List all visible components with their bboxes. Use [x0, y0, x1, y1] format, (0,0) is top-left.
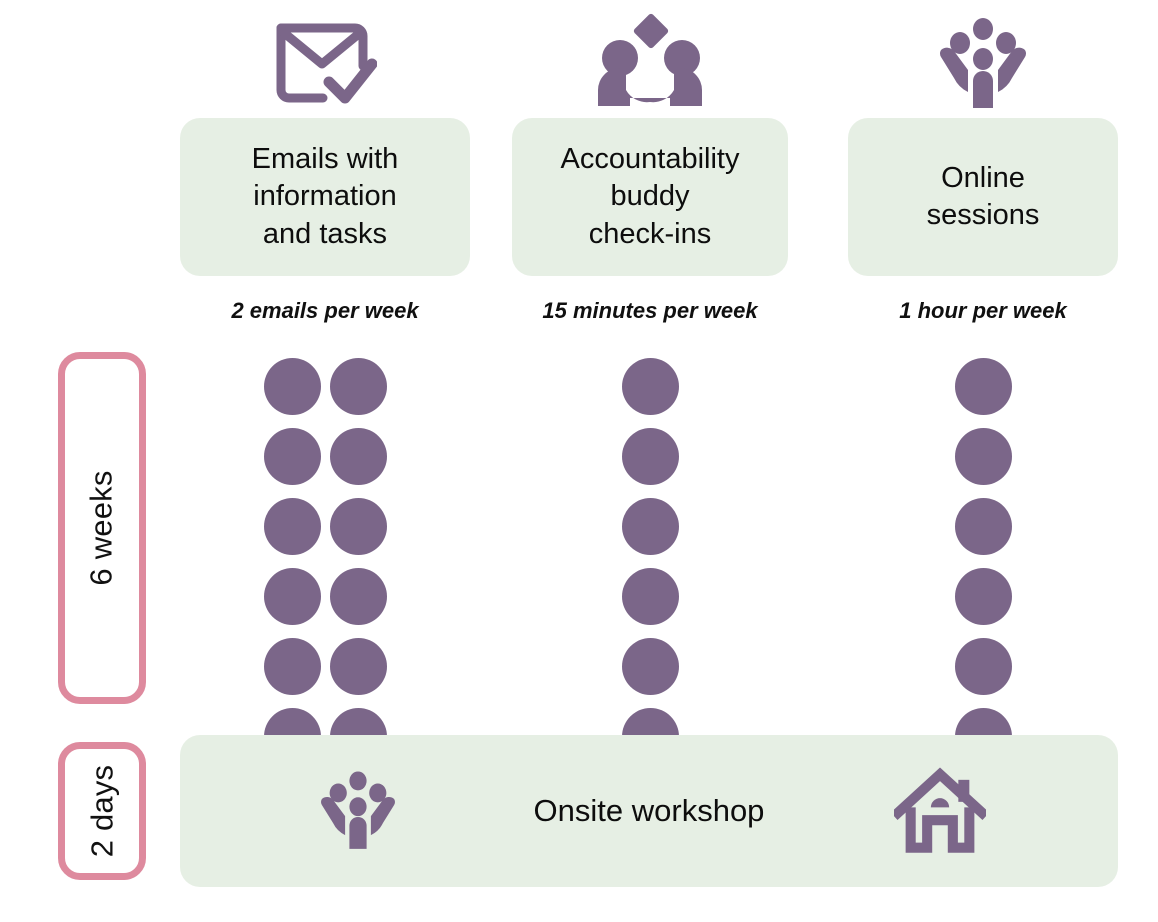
program-card-online-sessions: Online sessions: [848, 118, 1118, 276]
frequency-label-accountability: 15 minutes per week: [512, 298, 788, 324]
week-dot-row: [622, 568, 679, 625]
week-dot-row: [264, 428, 387, 485]
week-dot: [264, 568, 321, 625]
onsite-workshop-label: Onsite workshop: [534, 793, 765, 829]
week-dot: [330, 568, 387, 625]
week-dot: [955, 428, 1012, 485]
week-dot: [622, 428, 679, 485]
duration-label-2-days: 2 days: [58, 742, 146, 880]
week-dot-row: [264, 498, 387, 555]
week-dot: [264, 428, 321, 485]
week-dot-row: [955, 358, 1012, 415]
week-dot: [622, 498, 679, 555]
frequency-label-online-sessions: 1 hour per week: [848, 298, 1118, 324]
week-dot: [622, 638, 679, 695]
infographic-canvas: 6 weeks 2 days Emails with information a…: [0, 0, 1158, 922]
week-dot: [955, 498, 1012, 555]
week-dot: [330, 498, 387, 555]
card-title: Emails with information and tasks: [242, 141, 409, 252]
handshake-buddies-icon: [512, 8, 788, 112]
week-dot-row: [955, 498, 1012, 555]
week-dot-row: [622, 498, 679, 555]
week-dot-row: [622, 428, 679, 485]
group-community-icon: [848, 8, 1118, 112]
week-dot-row: [955, 428, 1012, 485]
week-dot-grid-emails: [180, 358, 470, 765]
week-dot: [264, 498, 321, 555]
duration-label-text: 6 weeks: [84, 470, 120, 585]
week-dot-row: [264, 638, 387, 695]
week-dot: [264, 358, 321, 415]
frequency-label-emails: 2 emails per week: [180, 298, 470, 324]
week-dot-grid-online-sessions: [848, 358, 1118, 765]
program-card-emails: Emails with information and tasks: [180, 118, 470, 276]
program-card-accountability: Accountability buddy check-ins: [512, 118, 788, 276]
envelope-check-icon: [180, 8, 470, 112]
onsite-workshop-bar: Onsite workshop: [180, 735, 1118, 887]
week-dot: [330, 428, 387, 485]
week-dot-row: [622, 358, 679, 415]
card-title: Accountability buddy check-ins: [551, 141, 750, 252]
week-dot: [622, 568, 679, 625]
week-dot-row: [622, 638, 679, 695]
group-community-icon: [310, 769, 406, 853]
duration-label-text: 2 days: [84, 765, 120, 858]
week-dot: [330, 358, 387, 415]
week-dot: [622, 358, 679, 415]
week-dot: [264, 638, 321, 695]
card-title: Online sessions: [917, 160, 1050, 234]
week-dot: [955, 638, 1012, 695]
week-dot-row: [264, 568, 387, 625]
week-dot: [955, 358, 1012, 415]
week-dot-row: [955, 568, 1012, 625]
duration-label-6-weeks: 6 weeks: [58, 352, 146, 704]
week-dot: [955, 568, 1012, 625]
week-dot: [330, 638, 387, 695]
week-dot-grid-accountability: [512, 358, 788, 765]
week-dot-row: [264, 358, 387, 415]
week-dot-row: [955, 638, 1012, 695]
house-icon: [892, 767, 988, 855]
